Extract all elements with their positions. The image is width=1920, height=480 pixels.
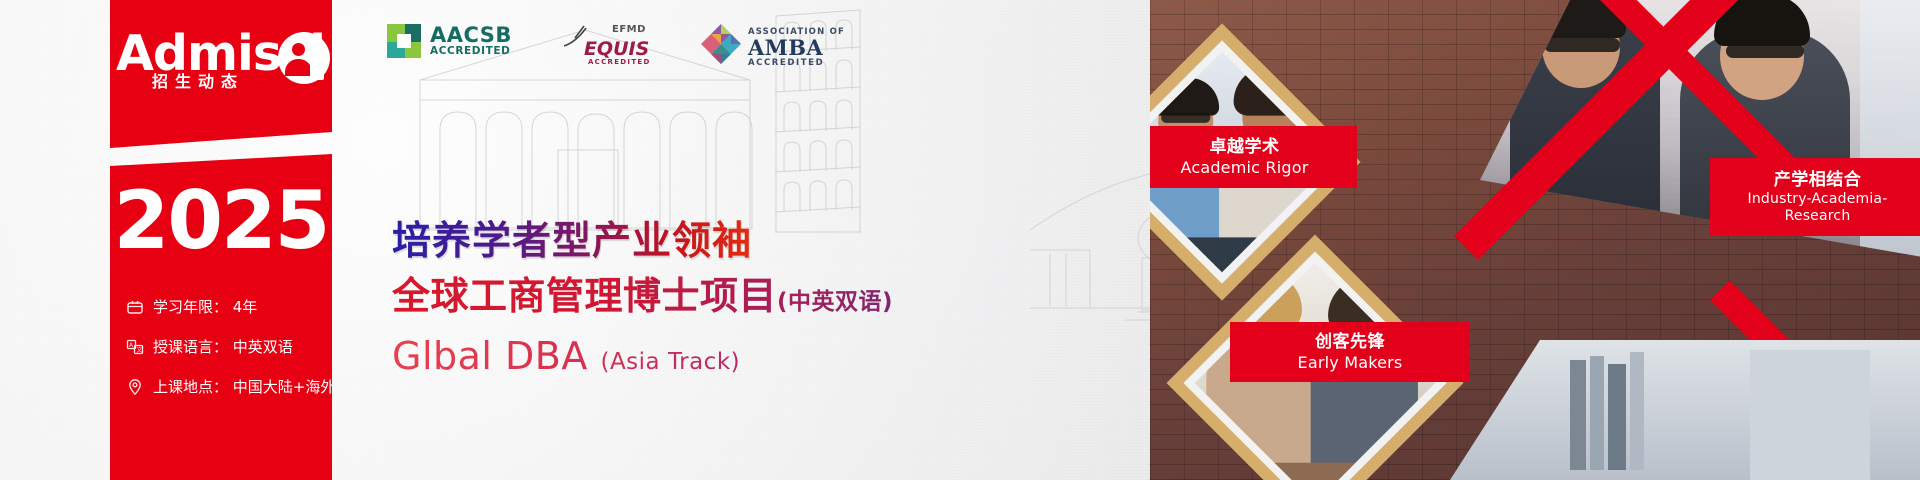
- info-row-language: A文 授课语言： 中英双语: [126, 336, 336, 357]
- language-icon: A文: [126, 338, 144, 356]
- info-text-duration: 学习年限： 4年: [153, 296, 257, 317]
- person-body-shape: [285, 59, 312, 76]
- aacsb-mark-icon: [385, 22, 423, 60]
- headline-program-paren: (中英双语): [777, 289, 893, 315]
- feature-en1-industry: Industry-Academia-: [1748, 191, 1888, 208]
- equis-title: EQUIS: [584, 38, 649, 60]
- headline-block: 培养学者型产业领袖 全球工商管理博士项目(中英双语) Glbal DBA (As…: [392, 218, 1012, 384]
- aacsb-subtitle: ACCREDITED: [430, 45, 512, 57]
- feature-label-early-makers: 创客先锋 Early Makers: [1230, 322, 1470, 382]
- left-red-panel: Admissi 招生动态 2025 学习年限： 4年 A文 授课语言： 中英双语: [110, 0, 332, 480]
- aacsb-logo: AACSB ACCREDITED: [385, 22, 512, 60]
- headline-program-cn: 全球工商管理博士项目(中英双语): [392, 272, 1012, 326]
- admission-banner: Admissi 招生动态 2025 学习年限： 4年 A文 授课语言： 中英双语: [0, 0, 1920, 480]
- amba-diamond-icon: [698, 22, 744, 73]
- feature-label-industry-academia: 产学相结合 Industry-Academia- Research: [1710, 158, 1920, 236]
- feature-cn-industry: 产学相结合: [1774, 170, 1862, 191]
- location-pin-icon: [126, 378, 144, 396]
- year-label: 2025: [110, 178, 332, 264]
- amba-title: AMBA: [748, 37, 845, 59]
- accreditation-logo-row: AACSB ACCREDITED EFMD EQUIS ACCREDITED: [385, 22, 845, 73]
- headline-program-main: 全球工商管理博士项目: [392, 274, 777, 318]
- info-text-location: 上课地点： 中国大陆+海外: [153, 376, 335, 397]
- admission-logo: Admissi 招生动态: [110, 26, 340, 106]
- equis-subtitle: ACCREDITED: [588, 58, 651, 66]
- equis-logo: EFMD EQUIS ACCREDITED: [562, 22, 648, 68]
- feature-label-academic-rigor: 卓越学术 Academic Rigor: [1150, 126, 1357, 188]
- info-text-language: 授课语言： 中英双语: [153, 336, 293, 357]
- program-info-list: 学习年限： 4年 A文 授课语言： 中英双语 上课地点： 中国大陆+海外: [126, 296, 336, 416]
- right-photo-collage: 产学相结合 Industry-Academia- Research 卓越学术 A…: [1150, 0, 1920, 480]
- amba-subtitle: ACCREDITED: [748, 59, 845, 68]
- headline-program-en: Glbal DBA (Asia Track): [392, 334, 1012, 384]
- aacsb-text: AACSB ACCREDITED: [430, 25, 512, 57]
- amba-text: ASSOCIATION OF AMBA ACCREDITED: [748, 28, 845, 67]
- efmd-label: EFMD: [612, 24, 646, 35]
- headline-program-en-sub: (Asia Track): [600, 349, 740, 375]
- info-row-location: 上课地点： 中国大陆+海外: [126, 376, 336, 397]
- headline-slogan: 培养学者型产业领袖: [392, 218, 1012, 266]
- wordmark-tail-stroke: [310, 46, 324, 80]
- headline-program-en-main: Glbal DBA: [392, 334, 588, 378]
- feature-en-academic: Academic Rigor: [1180, 158, 1308, 178]
- amba-logo: ASSOCIATION OF AMBA ACCREDITED: [698, 22, 845, 73]
- feature-en-makers: Early Makers: [1298, 353, 1403, 373]
- feature-en2-industry: Research: [1785, 208, 1851, 225]
- info-row-duration: 学习年限： 4年: [126, 296, 336, 317]
- calendar-icon: [126, 298, 144, 316]
- svg-text:文: 文: [137, 346, 143, 354]
- admission-cn-subtitle: 招生动态: [152, 68, 244, 92]
- aacsb-title: AACSB: [430, 25, 512, 45]
- feature-cn-makers: 创客先锋: [1315, 332, 1385, 353]
- feature-cn-academic: 卓越学术: [1210, 137, 1280, 158]
